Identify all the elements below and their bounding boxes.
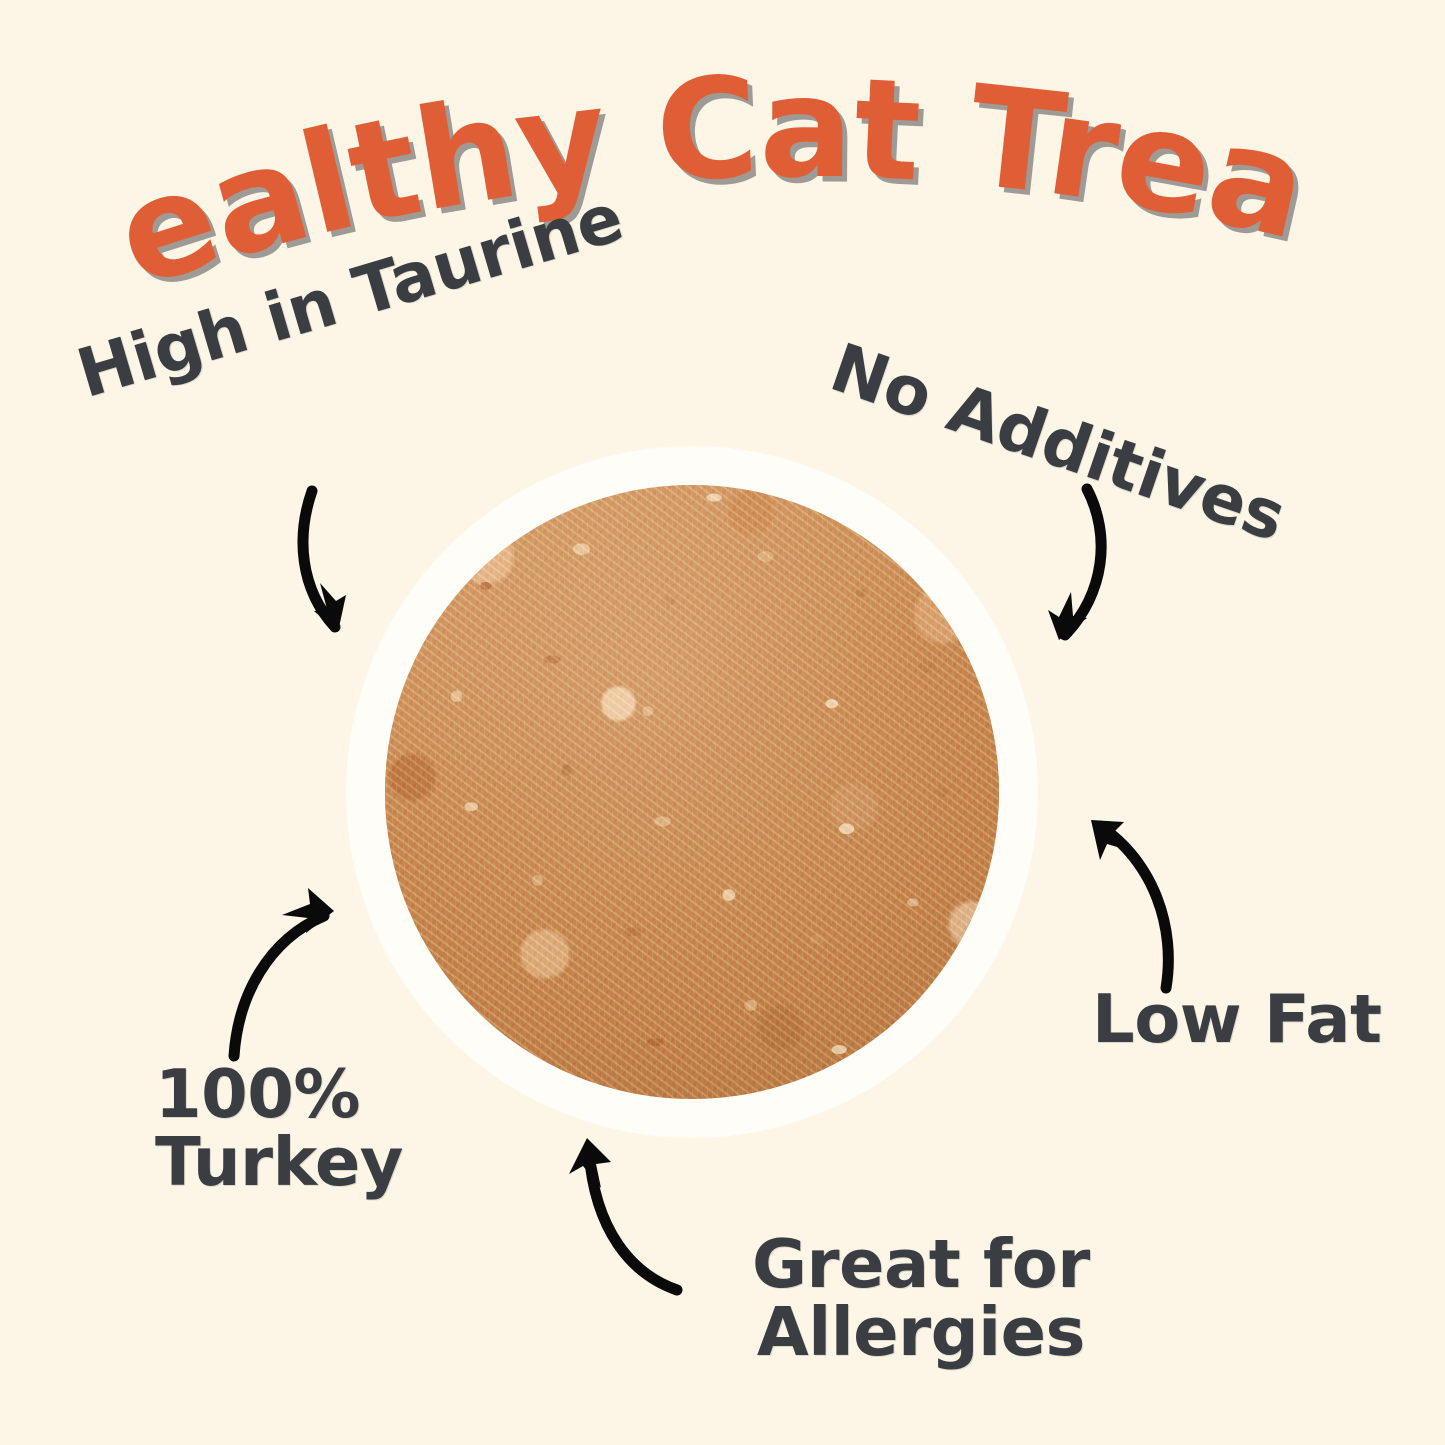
infographic-canvas: Healthy Cat Treats Healthy Cat Treats Hi… <box>0 0 1445 1445</box>
arrow-icon-great-for-allergies <box>565 1118 755 1318</box>
benefit-label-low-fat: Low Fat <box>1092 985 1382 1053</box>
arrow-icon-no-additives <box>1005 485 1155 670</box>
arrow-icon-100-percent-turkey <box>212 878 377 1063</box>
page-title-main: Healthy Cat Treats <box>0 0 1321 318</box>
benefit-label-great-for-allergies: Great for Allergies <box>752 1230 1090 1367</box>
arrow-icon-low-fat <box>1058 790 1208 995</box>
page-title-main-text: Healthy Cat Treats <box>0 0 1321 318</box>
page-title: Healthy Cat Treats Healthy Cat Treats <box>0 55 1445 315</box>
product-photo-vignette <box>385 485 999 1099</box>
benefit-label-100-percent-turkey: 100% Turkey <box>155 1060 403 1197</box>
product-photo <box>385 485 999 1099</box>
